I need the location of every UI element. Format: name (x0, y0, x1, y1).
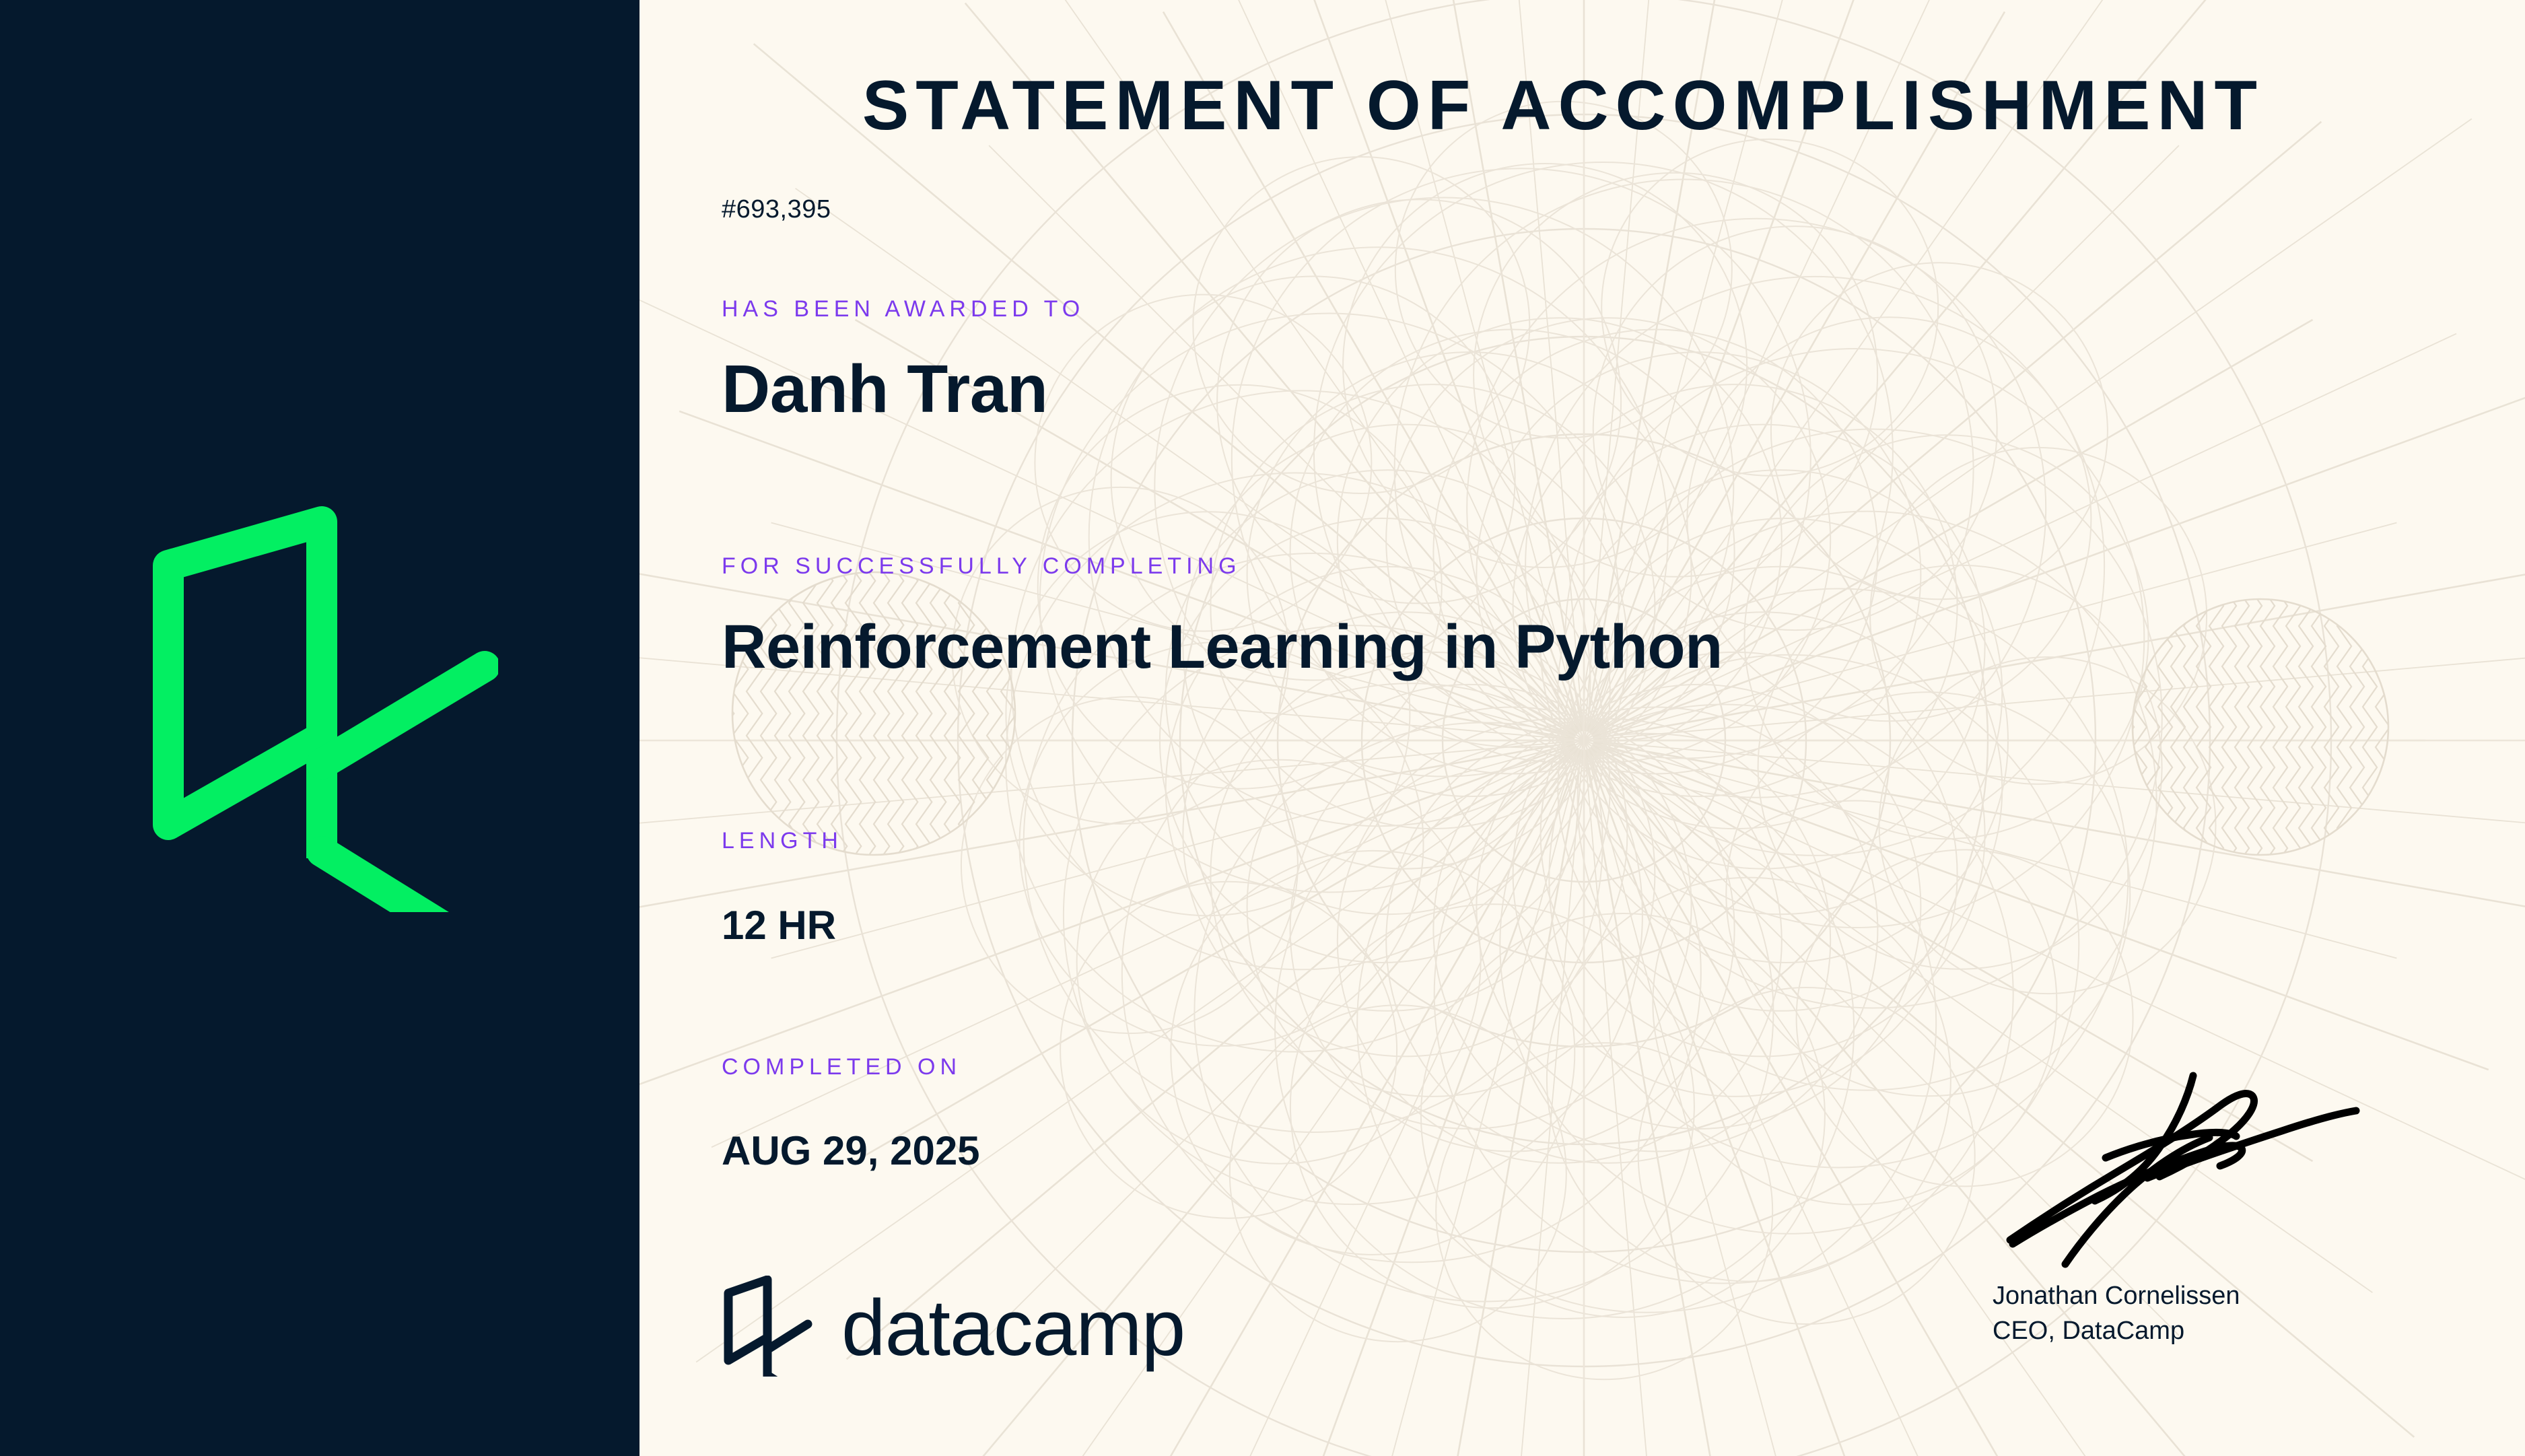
course-completion-label: FOR SUCCESSFULLY COMPLETING (722, 553, 1241, 580)
sidebar-panel (0, 0, 639, 1456)
datacamp-logo-icon (148, 495, 498, 912)
certificate-page: STATEMENT OF ACCOMPLISHMENT #693,395 HAS… (0, 0, 2525, 1456)
completed-on-value: AUG 29, 2025 (722, 1131, 980, 1171)
certificate-number: #693,395 (722, 195, 831, 224)
length-value: 12 HR (722, 905, 836, 946)
signer-title: CEO, DataCamp (1993, 1317, 2184, 1346)
awarded-to-label: HAS BEEN AWARDED TO (722, 296, 1084, 322)
datacamp-brand-logo: datacamp (722, 1276, 1233, 1377)
handwritten-signature-icon (1945, 1050, 2376, 1272)
datacamp-mark-icon (728, 1280, 808, 1377)
recipient-name: Danh Tran (722, 355, 1047, 423)
completed-on-label: COMPLETED ON (722, 1054, 961, 1080)
datacamp-wordmark: datacamp (841, 1284, 1185, 1373)
course-name: Reinforcement Learning in Python (722, 616, 1723, 678)
signer-name: Jonathan Cornelissen (1993, 1282, 2240, 1311)
page-title: STATEMENT OF ACCOMPLISHMENT (722, 71, 2405, 141)
length-label: LENGTH (722, 828, 843, 854)
